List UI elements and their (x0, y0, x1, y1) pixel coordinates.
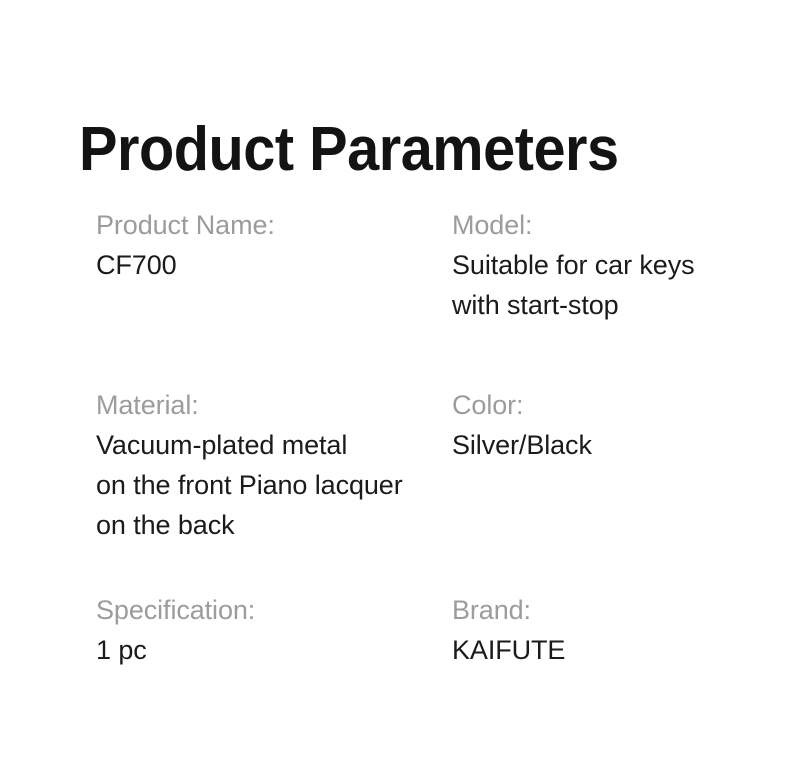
product-parameters-page: Product Parameters Product Name: CF700 M… (0, 0, 790, 760)
spec-value: CF700 (96, 245, 452, 285)
spec-row: Material: Vacuum-plated metal on the fro… (96, 385, 736, 590)
spec-value: Vacuum-plated metal on the front Piano l… (96, 425, 452, 545)
spec-value-line: KAIFUTE (452, 630, 736, 670)
spec-value: Silver/Black (452, 425, 736, 465)
spec-item-specification: Specification: 1 pc (96, 590, 452, 670)
spec-label: Brand: (452, 590, 736, 630)
spec-label: Material: (96, 385, 452, 425)
spec-label: Color: (452, 385, 736, 425)
spec-item-product-name: Product Name: CF700 (96, 205, 452, 285)
spec-value-line: Vacuum-plated metal (96, 425, 452, 465)
spec-item-material: Material: Vacuum-plated metal on the fro… (96, 385, 452, 545)
spec-value: Suitable for car keys with start-stop (452, 245, 736, 325)
page-title: Product Parameters (79, 114, 619, 186)
spec-row: Product Name: CF700 Model: Suitable for … (96, 205, 736, 385)
spec-value-line: with start-stop (452, 285, 736, 325)
spec-label: Specification: (96, 590, 452, 630)
spec-value: KAIFUTE (452, 630, 736, 670)
spec-item-color: Color: Silver/Black (452, 385, 736, 465)
spec-row: Specification: 1 pc Brand: KAIFUTE (96, 590, 736, 690)
spec-value-line: on the back (96, 505, 452, 545)
spec-value-line: CF700 (96, 245, 452, 285)
spec-label: Product Name: (96, 205, 452, 245)
spec-item-brand: Brand: KAIFUTE (452, 590, 736, 670)
spec-value-line: on the front Piano lacquer (96, 465, 452, 505)
spec-label: Model: (452, 205, 736, 245)
spec-value-line: 1 pc (96, 630, 452, 670)
specifications-grid: Product Name: CF700 Model: Suitable for … (96, 205, 736, 690)
spec-value-line: Silver/Black (452, 425, 736, 465)
spec-item-model: Model: Suitable for car keys with start-… (452, 205, 736, 325)
spec-value-line: Suitable for car keys (452, 245, 736, 285)
spec-value: 1 pc (96, 630, 452, 670)
